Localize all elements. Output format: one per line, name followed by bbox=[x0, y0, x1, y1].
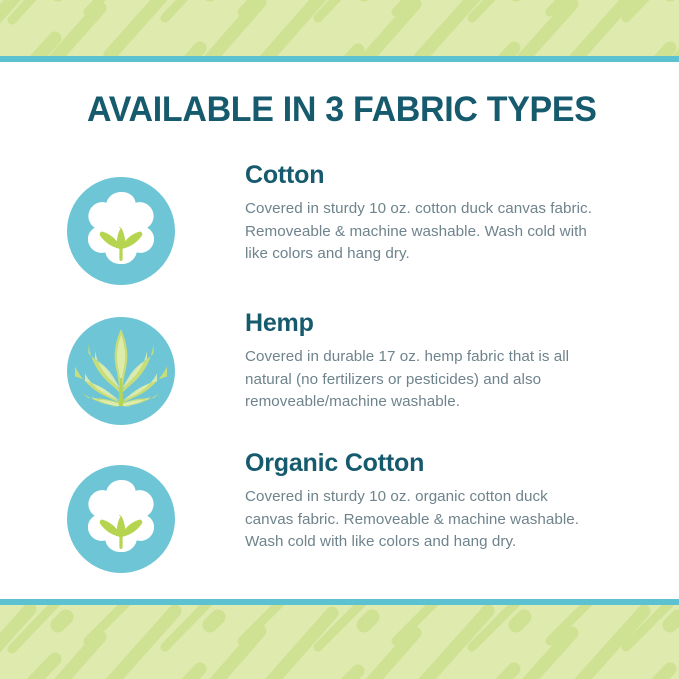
section-text-block: Hemp Covered in durable 17 oz. hemp fabr… bbox=[176, 308, 679, 414]
teal-divider-rule-bottom bbox=[0, 599, 679, 605]
list-item: Cotton Covered in sturdy 10 oz. cotton d… bbox=[0, 160, 679, 286]
cotton-boll-icon bbox=[66, 464, 176, 574]
diagonal-stripe-pattern-top bbox=[0, 0, 679, 62]
hemp-leaf-icon bbox=[66, 316, 176, 426]
section-title: Hemp bbox=[245, 308, 639, 338]
cotton-boll-icon bbox=[66, 176, 176, 286]
fabric-types-infographic: AVAILABLE IN 3 FABRIC TYPES Cotton Cover… bbox=[0, 0, 679, 679]
section-body: Covered in sturdy 10 oz. organic cotton … bbox=[245, 486, 600, 554]
page-title: AVAILABLE IN 3 FABRIC TYPES bbox=[87, 90, 597, 130]
section-title: Cotton bbox=[245, 160, 639, 190]
top-decorative-band bbox=[0, 0, 679, 62]
bottom-decorative-band bbox=[0, 599, 679, 679]
list-item: Hemp Covered in durable 17 oz. hemp fabr… bbox=[0, 308, 679, 426]
fabric-sections-list: Cotton Covered in sturdy 10 oz. cotton d… bbox=[0, 160, 679, 574]
section-text-block: Cotton Covered in sturdy 10 oz. cotton d… bbox=[176, 160, 679, 266]
list-item: Organic Cotton Covered in sturdy 10 oz. … bbox=[0, 448, 679, 574]
section-body: Covered in sturdy 10 oz. cotton duck can… bbox=[245, 198, 600, 266]
teal-divider-rule-top bbox=[0, 56, 679, 62]
diagonal-stripe-pattern-bottom bbox=[0, 599, 679, 679]
section-text-block: Organic Cotton Covered in sturdy 10 oz. … bbox=[176, 448, 679, 554]
section-title: Organic Cotton bbox=[245, 448, 639, 478]
section-body: Covered in durable 17 oz. hemp fabric th… bbox=[245, 346, 600, 414]
